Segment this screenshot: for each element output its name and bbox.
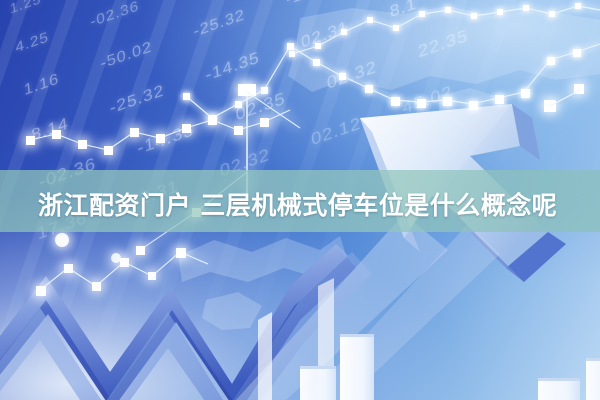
stock-banner-image: -11.25 -02.36 -50.02 -25.32 21.06 45.02 … — [0, 0, 600, 400]
page-title: 浙江配资门户 三层机械式停车位是什么概念呢 — [38, 189, 578, 223]
